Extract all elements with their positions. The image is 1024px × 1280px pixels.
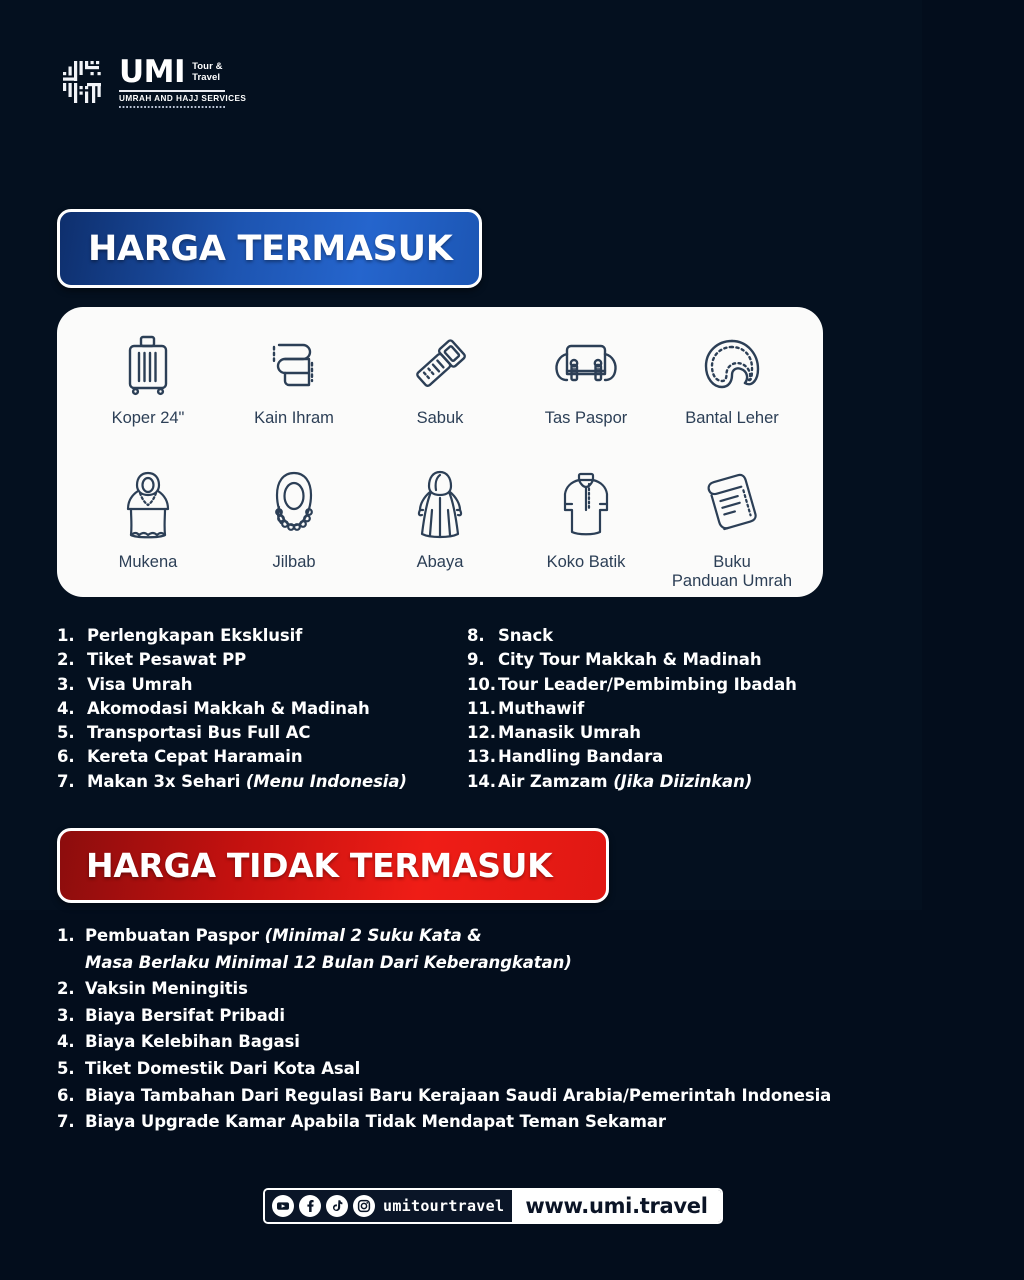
list-item: 7. Makan 3x Sehari (Menu Indonesia) (57, 770, 467, 794)
equipment-item: Koper 24" (75, 329, 221, 428)
instagram-icon[interactable] (353, 1195, 375, 1217)
list-item-text: Vaksin Meningitis (85, 976, 248, 1003)
equipment-item: Buku Panduan Umrah (659, 465, 805, 592)
brand-tagline-line2: Travel (192, 72, 220, 83)
list-item: 10. Tour Leader/Pembimbing Ibadah (467, 673, 847, 697)
list-item: 14. Air Zamzam (Jika Diizinkan) (467, 770, 847, 794)
list-item-number: 2. (57, 976, 85, 1003)
brand-header: UMI Tour & Travel UMRAH AND HAJJ SERVICE… (54, 55, 246, 111)
list-item-number: 9. (467, 648, 498, 672)
equipment-item: Koko Batik (513, 465, 659, 592)
footer-social-group: umitourtravel (265, 1190, 512, 1222)
ihram-cloth-icon (264, 329, 324, 401)
section-badge-excluded-label: HARGA TIDAK TERMASUK (86, 846, 552, 885)
section-badge-included-label: HARGA TERMASUK (88, 229, 453, 269)
equipment-item: Tas Paspor (513, 329, 659, 428)
list-item: 13. Handling Bandara (467, 745, 847, 769)
included-list: 1. Perlengkapan Eksklusif 2. Tiket Pesaw… (57, 624, 847, 794)
list-item-number: 12. (467, 721, 498, 745)
list-item-number: 5. (57, 721, 87, 745)
equipment-item-label: Bantal Leher (685, 409, 779, 428)
equipment-grid-row-1: Koper 24" Kain Ihram (57, 329, 823, 428)
list-item: 9. City Tour Makkah & Madinah (467, 648, 847, 672)
list-item-note: (Jika Diizinkan) (613, 772, 752, 791)
koko-shirt-icon (558, 465, 614, 545)
brand-divider-top (119, 90, 225, 92)
list-item-number: 13. (467, 745, 498, 769)
equipment-grid-row-2: Mukena (57, 465, 823, 592)
list-item-text: Tiket Domestik Dari Kota Asal (85, 1056, 360, 1083)
mukena-icon (123, 465, 173, 545)
list-item-text: Biaya Upgrade Kamar Apabila Tidak Mendap… (85, 1109, 666, 1136)
brand-tagline-line1: Tour & (192, 61, 223, 72)
list-item-number: 6. (57, 1083, 85, 1110)
social-handle[interactable]: umitourtravel (383, 1197, 504, 1215)
list-item-number: 3. (57, 1003, 85, 1030)
list-item-number: 11. (467, 697, 498, 721)
equipment-item: Sabuk (367, 329, 513, 428)
brand-wordmark: UMI Tour & Travel UMRAH AND HAJJ SERVICE… (119, 58, 246, 108)
list-item-text: Manasik Umrah (498, 721, 641, 745)
list-item: 4. Biaya Kelebihan Bagasi (57, 1029, 957, 1056)
list-item: 3. Biaya Bersifat Pribadi (57, 1003, 957, 1030)
umi-kufic-monogram-icon (54, 55, 110, 111)
list-item-note-2: Masa Berlaku Minimal 12 Bulan Dari Keber… (85, 953, 572, 972)
list-item-note: (Menu Indonesia) (246, 772, 407, 791)
list-item-number: 14. (467, 770, 498, 794)
list-item: 6. Biaya Tambahan Dari Regulasi Baru Ker… (57, 1083, 957, 1110)
list-item-text: Kereta Cepat Haramain (87, 745, 303, 769)
list-item-text: Akomodasi Makkah & Madinah (87, 697, 370, 721)
list-item-text: City Tour Makkah & Madinah (498, 648, 762, 672)
list-item-number: 6. (57, 745, 87, 769)
list-item-text: Visa Umrah (87, 673, 192, 697)
list-item-text: Transportasi Bus Full AC (87, 721, 310, 745)
list-item: 6. Kereta Cepat Haramain (57, 745, 467, 769)
facebook-icon[interactable] (299, 1195, 321, 1217)
list-item-text: Snack (498, 624, 553, 648)
footer-bar: umitourtravel www.umi.travel (263, 1188, 723, 1224)
included-list-column-right: 8. Snack 9. City Tour Makkah & Madinah 1… (467, 624, 847, 794)
equipment-item-label: Sabuk (417, 409, 464, 428)
equipment-item-label: Tas Paspor (545, 409, 628, 428)
list-item: 11. Muthawif (467, 697, 847, 721)
list-item: 2. Vaksin Meningitis (57, 976, 957, 1003)
list-item-number: 1. (57, 624, 87, 648)
list-item-number: 5. (57, 1056, 85, 1083)
list-item: 7. Biaya Upgrade Kamar Apabila Tidak Men… (57, 1109, 957, 1136)
list-item-number: 10. (467, 673, 498, 697)
list-item-text: Muthawif (498, 697, 584, 721)
hijab-icon (270, 465, 318, 545)
neck-pillow-icon (701, 329, 763, 401)
list-item-text: Tiket Pesawat PP (87, 648, 246, 672)
list-item: 8. Snack (467, 624, 847, 648)
poster-canvas: UMI Tour & Travel UMRAH AND HAJJ SERVICE… (0, 0, 1024, 1280)
list-item: 3. Visa Umrah (57, 673, 467, 697)
equipment-item-label: Koko Batik (547, 553, 626, 572)
list-item-number: 3. (57, 673, 87, 697)
list-item-number: 4. (57, 697, 87, 721)
list-item-text: Makan 3x Sehari (87, 772, 246, 791)
website-url[interactable]: www.umi.travel (525, 1194, 707, 1218)
list-item-text: Tour Leader/Pembimbing Ibadah (498, 673, 797, 697)
guidebook-icon (702, 465, 762, 545)
excluded-list: 1. Pembuatan Paspor (Minimal 2 Suku Kata… (57, 923, 957, 1136)
list-item: 12. Manasik Umrah (467, 721, 847, 745)
list-item-number: 7. (57, 1109, 85, 1136)
list-item-number: 8. (467, 624, 498, 648)
section-badge-excluded: HARGA TIDAK TERMASUK (57, 828, 609, 903)
list-item-text: Air Zamzam (498, 772, 613, 791)
included-list-column-left: 1. Perlengkapan Eksklusif 2. Tiket Pesaw… (57, 624, 467, 794)
equipment-item-label: Buku Panduan Umrah (672, 553, 792, 592)
equipment-item-label: Kain Ihram (254, 409, 334, 428)
equipment-item: Bantal Leher (659, 329, 805, 428)
equipment-item-label: Mukena (119, 553, 178, 572)
brand-name: UMI (119, 58, 185, 87)
equipment-item: Abaya (367, 465, 513, 592)
list-item: 5. Tiket Domestik Dari Kota Asal (57, 1056, 957, 1083)
list-item-note: (Minimal 2 Suku Kata & (265, 926, 482, 945)
footer-website-group[interactable]: www.umi.travel (512, 1190, 720, 1222)
belt-icon (411, 329, 469, 401)
passport-bag-icon (551, 329, 621, 401)
list-item: 4. Akomodasi Makkah & Madinah (57, 697, 467, 721)
list-item-text: Perlengkapan Eksklusif (87, 624, 302, 648)
list-item: 1. Perlengkapan Eksklusif (57, 624, 467, 648)
list-item-number: 2. (57, 648, 87, 672)
equipment-item-label: Jilbab (272, 553, 315, 572)
list-item-text: Pembuatan Paspor (85, 926, 265, 945)
brand-tagline: Tour & Travel (192, 62, 223, 83)
equipment-item: Mukena (75, 465, 221, 592)
list-item-text: Handling Bandara (498, 745, 663, 769)
equipment-item-label: Abaya (417, 553, 464, 572)
abaya-icon (414, 465, 466, 545)
equipment-card: Koper 24" Kain Ihram (57, 307, 823, 597)
list-item-text: Biaya Bersifat Pribadi (85, 1003, 285, 1030)
list-item-text: Biaya Tambahan Dari Regulasi Baru Keraja… (85, 1083, 831, 1110)
brand-divider-dotted (119, 106, 225, 108)
equipment-item: Kain Ihram (221, 329, 367, 428)
list-item-text: Biaya Kelebihan Bagasi (85, 1029, 300, 1056)
list-item: 1. Pembuatan Paspor (Minimal 2 Suku Kata… (57, 923, 957, 976)
list-item-number: 4. (57, 1029, 85, 1056)
equipment-item: Jilbab (221, 465, 367, 592)
brand-subtitle: UMRAH AND HAJJ SERVICES (119, 94, 246, 103)
list-item: 2. Tiket Pesawat PP (57, 648, 467, 672)
equipment-item-label: Koper 24" (112, 409, 185, 428)
youtube-icon[interactable] (272, 1195, 294, 1217)
section-badge-included: HARGA TERMASUK (57, 209, 482, 288)
list-item: 5. Transportasi Bus Full AC (57, 721, 467, 745)
list-item-number: 7. (57, 770, 87, 794)
suitcase-icon (121, 329, 175, 401)
list-item-number: 1. (57, 923, 85, 950)
tiktok-icon[interactable] (326, 1195, 348, 1217)
